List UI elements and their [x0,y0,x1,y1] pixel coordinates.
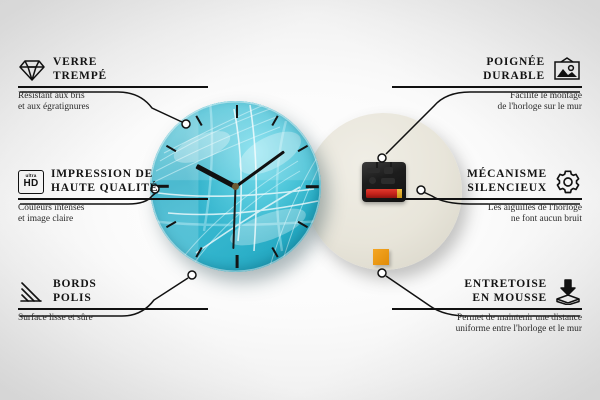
feature-entretoise-en-mousse: ENTRETOISE EN MOUSSE Permet de maintenir… [392,278,582,335]
divider [18,198,208,200]
connector-dot [182,120,190,128]
ultra-hd-badge-bottom: HD [23,179,38,189]
feature-description: Les aiguilles de l'horloge ne font aucun… [392,203,582,226]
connector-dot [378,269,386,277]
feature-title: ENTRETOISE EN MOUSSE [464,278,547,305]
feature-verre-trempe: VERRE TREMPÉ Résistant aux bris et aux é… [18,56,208,113]
feature-poignee-durable: POIGNÉE DURABLE Facilite le montage de l… [392,56,582,113]
feature-title: POIGNÉE DURABLE [483,56,545,83]
divider [18,308,208,310]
divider [392,86,582,88]
feature-title: VERRE TREMPÉ [53,56,107,83]
feature-description: Couleurs intenses et image claire [18,203,208,226]
gear-icon [554,169,582,195]
divider [18,86,208,88]
feature-bords-polis: BORDS POLIS Surface lisse et sûre [18,278,208,324]
feature-title: IMPRESSION DE HAUTE QUALITÉ [51,168,158,195]
feature-description: Résistant aux bris et aux égratignures [18,91,208,114]
feature-impression-haute-qualite: ultra HD IMPRESSION DE HAUTE QUALITÉ Cou… [18,168,208,225]
feature-description: Surface lisse et sûre [18,313,208,324]
infographic-canvas: VERRE TREMPÉ Résistant aux bris et aux é… [0,0,600,400]
picture-hanger-icon [552,57,582,83]
feature-title: BORDS POLIS [53,278,97,305]
feature-title: MÉCANISME SILENCIEUX [467,168,547,195]
foam-spacer-icon [554,279,582,305]
ultra-hd-badge-icon: ultra HD [18,170,44,194]
connector-dot [378,154,386,162]
polished-edges-icon [18,280,46,304]
feature-description: Facilite le montage de l'horloge sur le … [392,91,582,114]
divider [392,308,582,310]
feature-mecanisme-silencieux: MÉCANISME SILENCIEUX Les aiguilles de l'… [392,168,582,225]
divider [392,198,582,200]
diamond-icon [18,58,46,82]
feature-description: Permet de maintenir une distance uniform… [392,313,582,336]
